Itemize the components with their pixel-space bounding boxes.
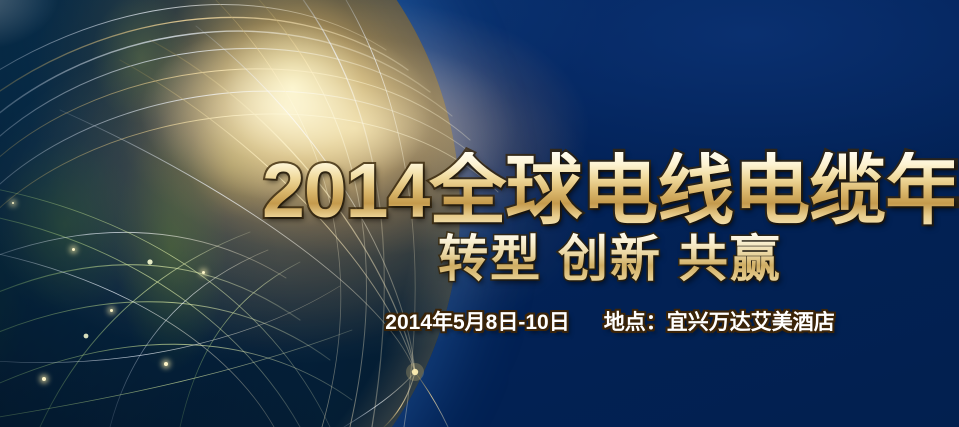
event-info-row: 2014年5月8日-10日 地点：宜兴万达艾美酒店: [330, 306, 890, 336]
banner-text-block: 2014全球电线电缆年会 2014全球电线电缆年会 转型 创新 共赢 转型 创新…: [0, 0, 959, 427]
main-title: 2014全球电线电缆年会: [262, 152, 954, 230]
event-venue: 地点：宜兴万达艾美酒店: [604, 306, 835, 336]
event-date: 2014年5月8日-10日: [385, 306, 569, 336]
conference-banner: 2014全球电线电缆年会 2014全球电线电缆年会 转型 创新 共赢 转型 创新…: [0, 0, 959, 427]
sub-title: 转型 创新 共赢: [330, 232, 890, 286]
